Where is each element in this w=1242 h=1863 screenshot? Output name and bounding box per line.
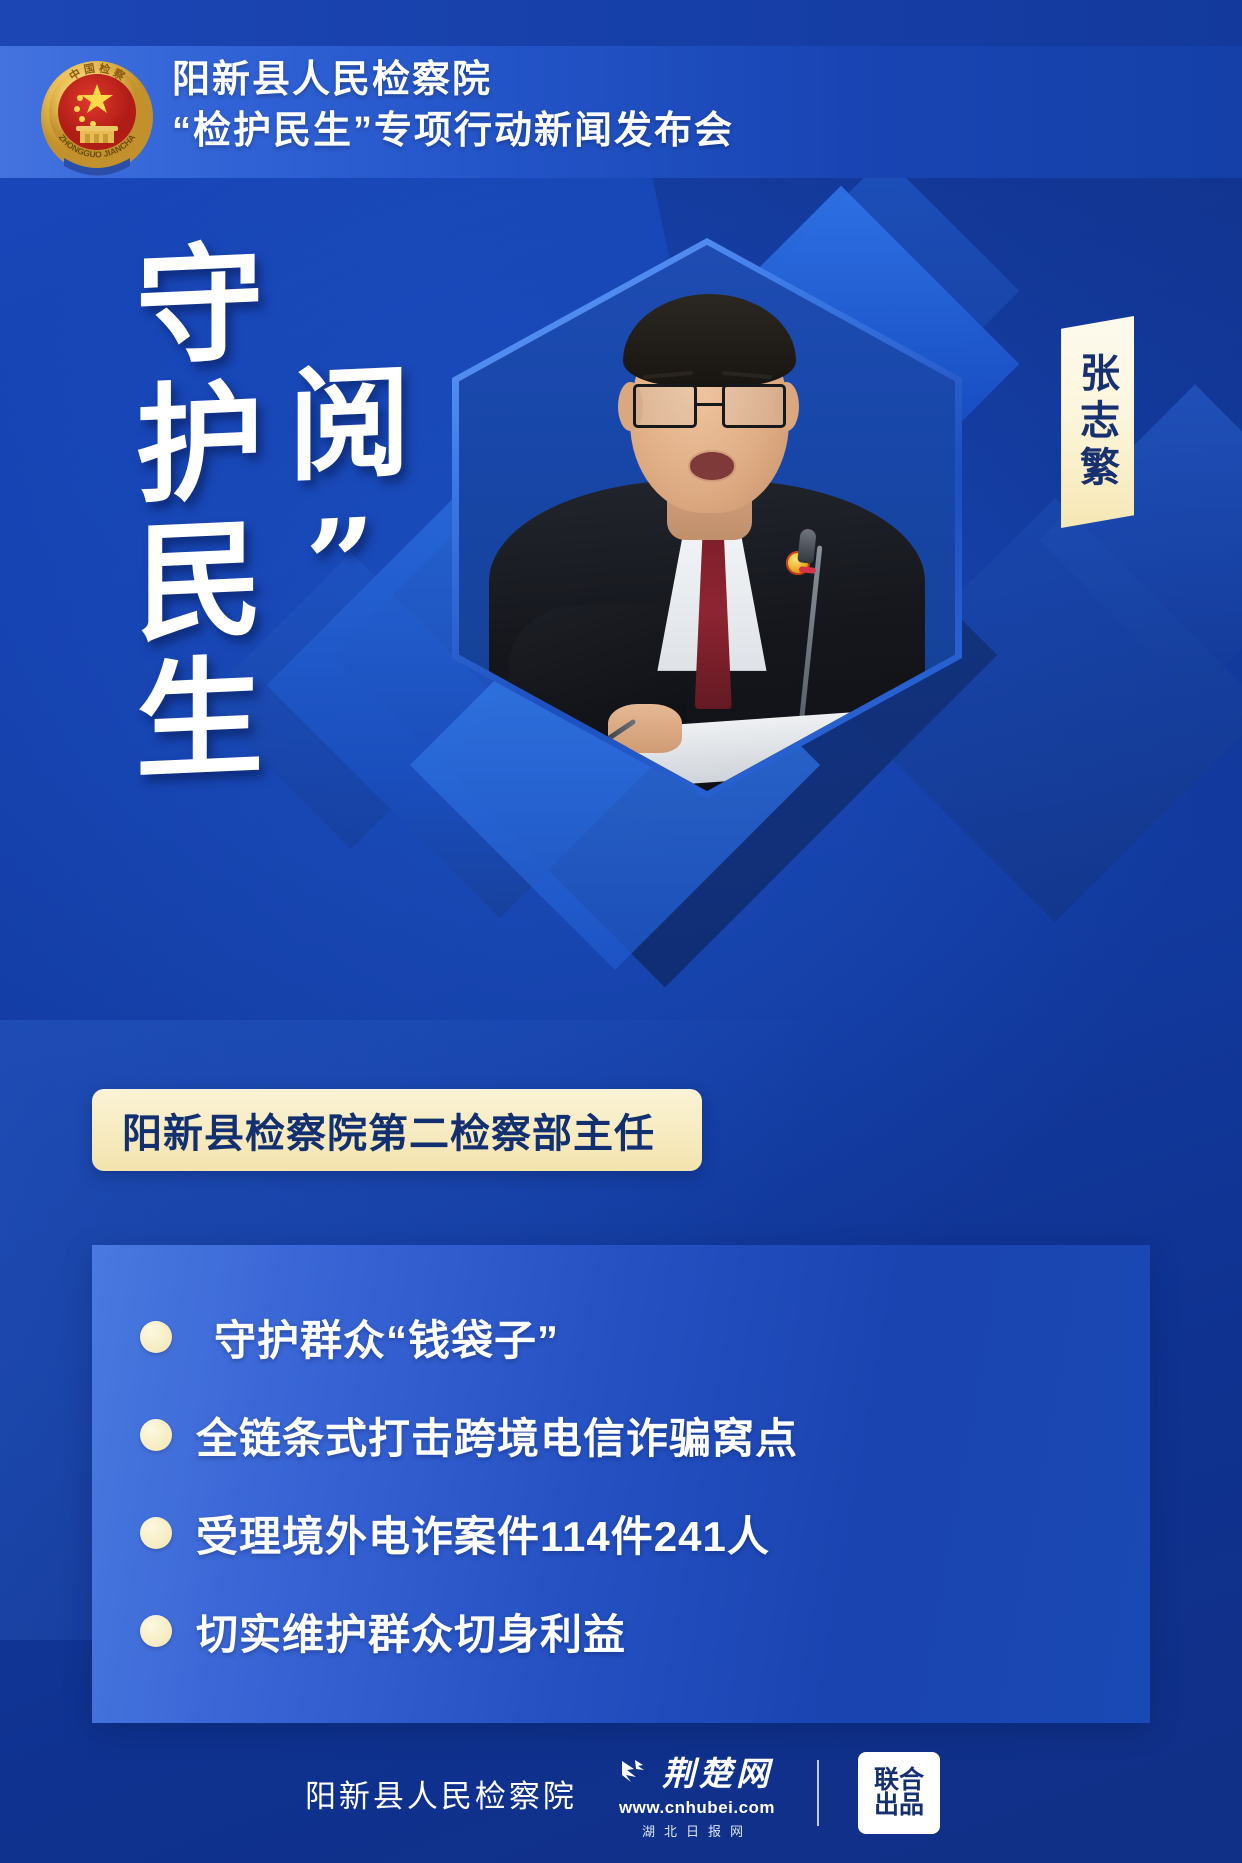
list-item-text: 全链条式打击跨境电信诈骗窝点 [196,1405,798,1466]
media-brand-name: 荆楚网 [662,1747,773,1795]
bullet-dot-icon [140,1615,172,1647]
portrait-hexagon-inner [459,245,955,791]
eyeglasses-icon [633,384,787,428]
speaker-portrait [452,238,962,798]
speaker-name: 张志繁 [1067,352,1125,493]
stamp-line-2: 出品 [873,1793,925,1818]
list-item: 全链条式打击跨境电信诈骗窝点 [140,1386,1120,1484]
media-subtitle: 湖北日报网 [642,1821,752,1840]
speaker-photo [459,245,955,791]
list-item: 切实维护群众切身利益 [140,1582,1120,1680]
cnhubei-mark-icon [621,1758,655,1784]
media-url: www.cnhubei.com [619,1798,775,1818]
list-item: 受理境外电诈案件114件241人 [140,1484,1120,1582]
footer-organization: 阳新县人民检察院 [305,1771,577,1816]
procuratorate-emblem-icon: 中 国 检 察 ZHONGGUO JIANCHA [36,54,158,176]
speaker-name-tag: 张志繁 [1058,316,1134,528]
speaker-role-text: 阳新县检察院第二检察部主任 [122,1101,655,1159]
list-item-text: 切实维护群众切身利益 [196,1601,626,1662]
bullet-dot-icon [140,1419,172,1451]
header-title-block: 阳新县人民检察院 “检护民生”专项行动新闻发布会 [172,58,734,154]
joint-production-stamp: 联合 出品 [861,1755,937,1831]
media-partner-logo: 荆楚网 www.cnhubei.com 湖北日报网 [619,1747,775,1840]
speaker-role-bar: 阳新县检察院第二检察部主任 [92,1089,702,1171]
list-item-text: 受理境外电诈案件114件241人 [196,1503,770,1564]
footer-divider [817,1760,819,1826]
list-item-text: 守护群众“钱袋子” [214,1307,559,1368]
poster-canvas: 中 国 检 察 ZHONGGUO JIANCHA 阳新县人民检察院 “检护民生”… [0,0,1242,1863]
footer: 阳新县人民检察院 荆楚网 www.cnhubei.com 湖北日报网 联合 出品 [0,1723,1242,1863]
header-title-line2: “检护民生”专项行动新闻发布会 [172,109,734,154]
bullet-dot-icon [140,1517,172,1549]
list-item: 守护群众“钱袋子” [140,1288,1120,1386]
stamp-line-1: 联合 [873,1768,925,1793]
highlights-list: 守护群众“钱袋子” 全链条式打击跨境电信诈骗窝点 受理境外电诈案件114件241… [140,1288,1120,1680]
header-title-line1: 阳新县人民检察院 [172,58,734,103]
bullet-dot-icon [140,1321,172,1353]
